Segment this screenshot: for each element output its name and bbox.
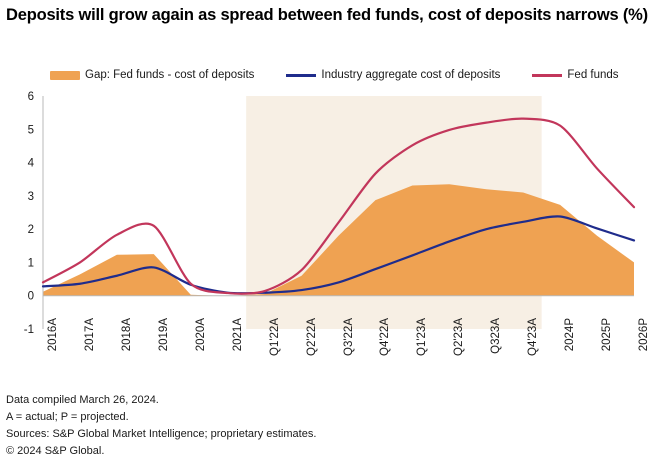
x-axis-tick-labels: 2016A2017A2018A2019A2020A2021AQ1'22AQ2'2… [0,318,660,392]
svg-text:0: 0 [28,291,34,303]
footnote-line-0: Data compiled March 26, 2024. [6,392,654,409]
chart-page: Deposits will grow again as spread betwe… [0,0,660,464]
y-axis-tick-labels: -10123456 [24,91,35,336]
svg-text:6: 6 [28,91,34,103]
legend-label-fed-funds: Fed funds [567,69,618,81]
legend-label-cost-of-deposits: Industry aggregate cost of deposits [321,69,500,81]
footnote-line-1: A = actual; P = projected. [6,409,654,426]
x-axis-tick-label: Q4'23A [528,318,540,356]
legend-item-gap[interactable]: Gap: Fed funds - cost of deposits [50,69,254,81]
footnote-line-2: Sources: S&P Global Market Intelligence;… [6,426,654,443]
x-axis-tick-label: 2017A [85,318,97,351]
chart-svg: -10123456 [0,88,660,338]
legend-swatch-cost-of-deposits-icon [286,74,316,77]
x-axis-tick-label: 2019A [159,318,171,351]
x-axis-tick-label: Q1'22A [270,318,282,356]
legend-item-cost-of-deposits[interactable]: Industry aggregate cost of deposits [286,69,500,81]
x-axis-tick-label: Q1'23A [417,318,429,356]
legend-swatch-gap-icon [50,71,80,80]
x-axis-tick-label: 2020A [196,318,208,351]
legend-item-fed-funds[interactable]: Fed funds [532,69,618,81]
chart-footnotes: Data compiled March 26, 2024. A = actual… [6,392,654,460]
x-axis-tick-label: Q2'23A [454,318,466,356]
x-axis-tick-label: 2025P [602,318,614,351]
svg-text:3: 3 [28,191,34,203]
x-axis-tick-label: Q3'22A [344,318,356,356]
chart-legend: Gap: Fed funds - cost of deposits Indust… [50,66,650,84]
svg-text:1: 1 [28,257,34,269]
x-axis-tick-label: 2026P [639,318,651,351]
x-axis-tick-label: 2018A [122,318,134,351]
x-axis-tick-label: Q2'22A [307,318,319,356]
legend-swatch-fed-funds-icon [532,74,562,77]
svg-text:5: 5 [28,124,34,136]
x-axis-tick-label: 2021A [233,318,245,351]
x-axis-tick-label: Q4'22A [380,318,392,356]
x-axis-tick-label: 2016A [48,318,60,351]
chart-plot-area: -10123456 [0,88,660,338]
x-axis-tick-label: Q323A [491,318,503,354]
legend-label-gap: Gap: Fed funds - cost of deposits [85,69,254,81]
footnote-line-3: © 2024 S&P Global. [6,443,654,460]
svg-text:2: 2 [28,224,34,236]
x-axis-tick-label: 2024P [565,318,577,351]
svg-text:4: 4 [28,158,35,170]
page-title: Deposits will grow again as spread betwe… [6,5,654,26]
